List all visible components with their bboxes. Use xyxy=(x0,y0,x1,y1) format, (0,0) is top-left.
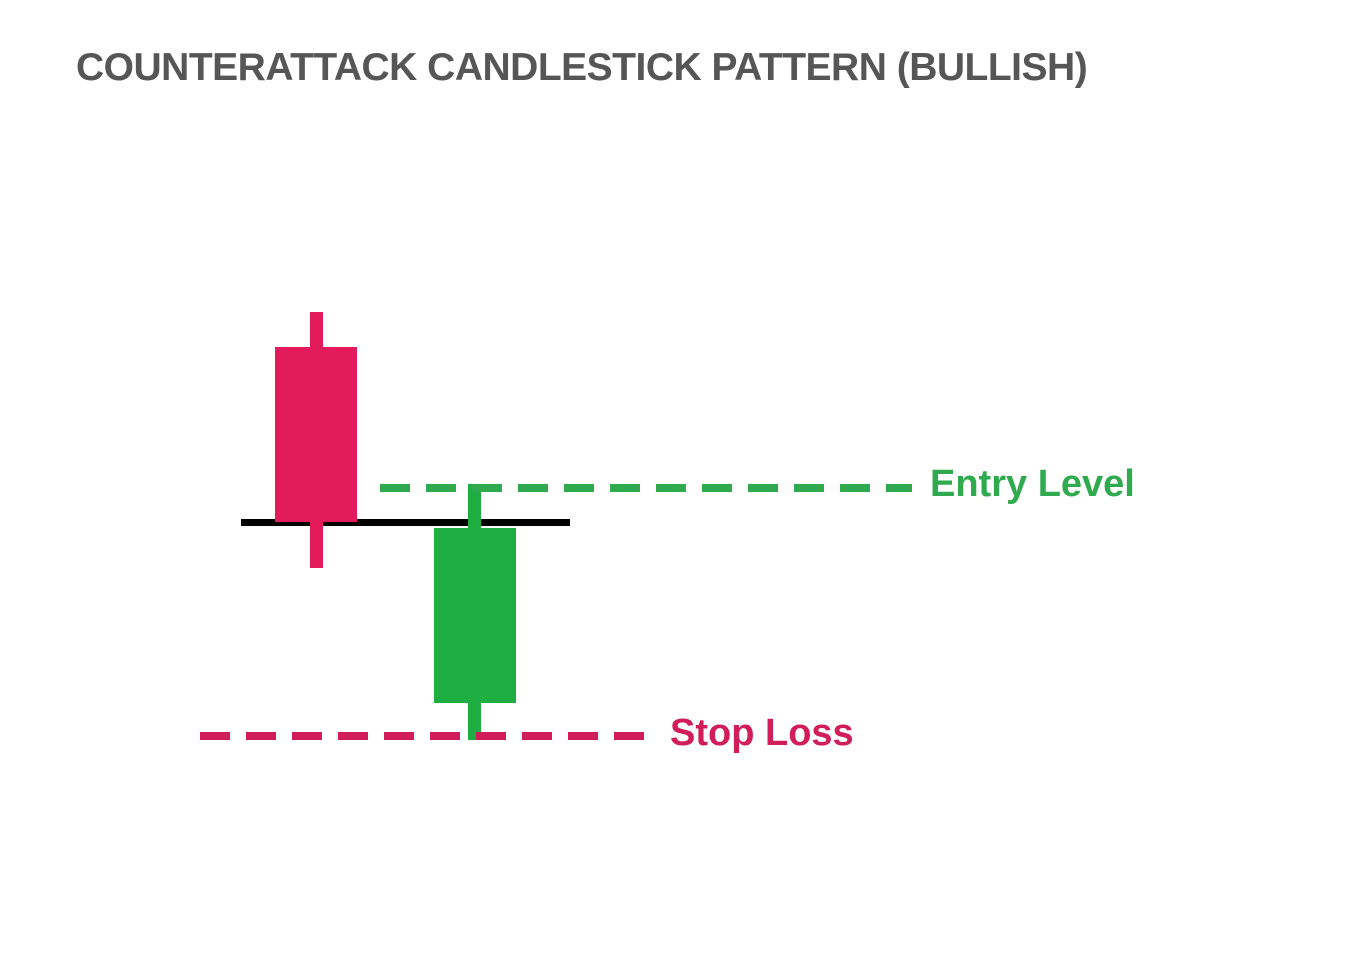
bearish-candle-body xyxy=(275,347,357,522)
entry-level-label: Entry Level xyxy=(930,463,1135,506)
chart-canvas: COUNTERATTACK CANDLESTICK PATTERN (BULLI… xyxy=(0,0,1372,980)
bullish-candle-body xyxy=(434,528,516,703)
stop-loss-label: Stop Loss xyxy=(670,712,854,755)
stop-loss-line xyxy=(200,732,650,740)
entry-level-line xyxy=(380,484,912,492)
candlestick-plot-area: Entry Level Stop Loss xyxy=(0,0,1372,980)
